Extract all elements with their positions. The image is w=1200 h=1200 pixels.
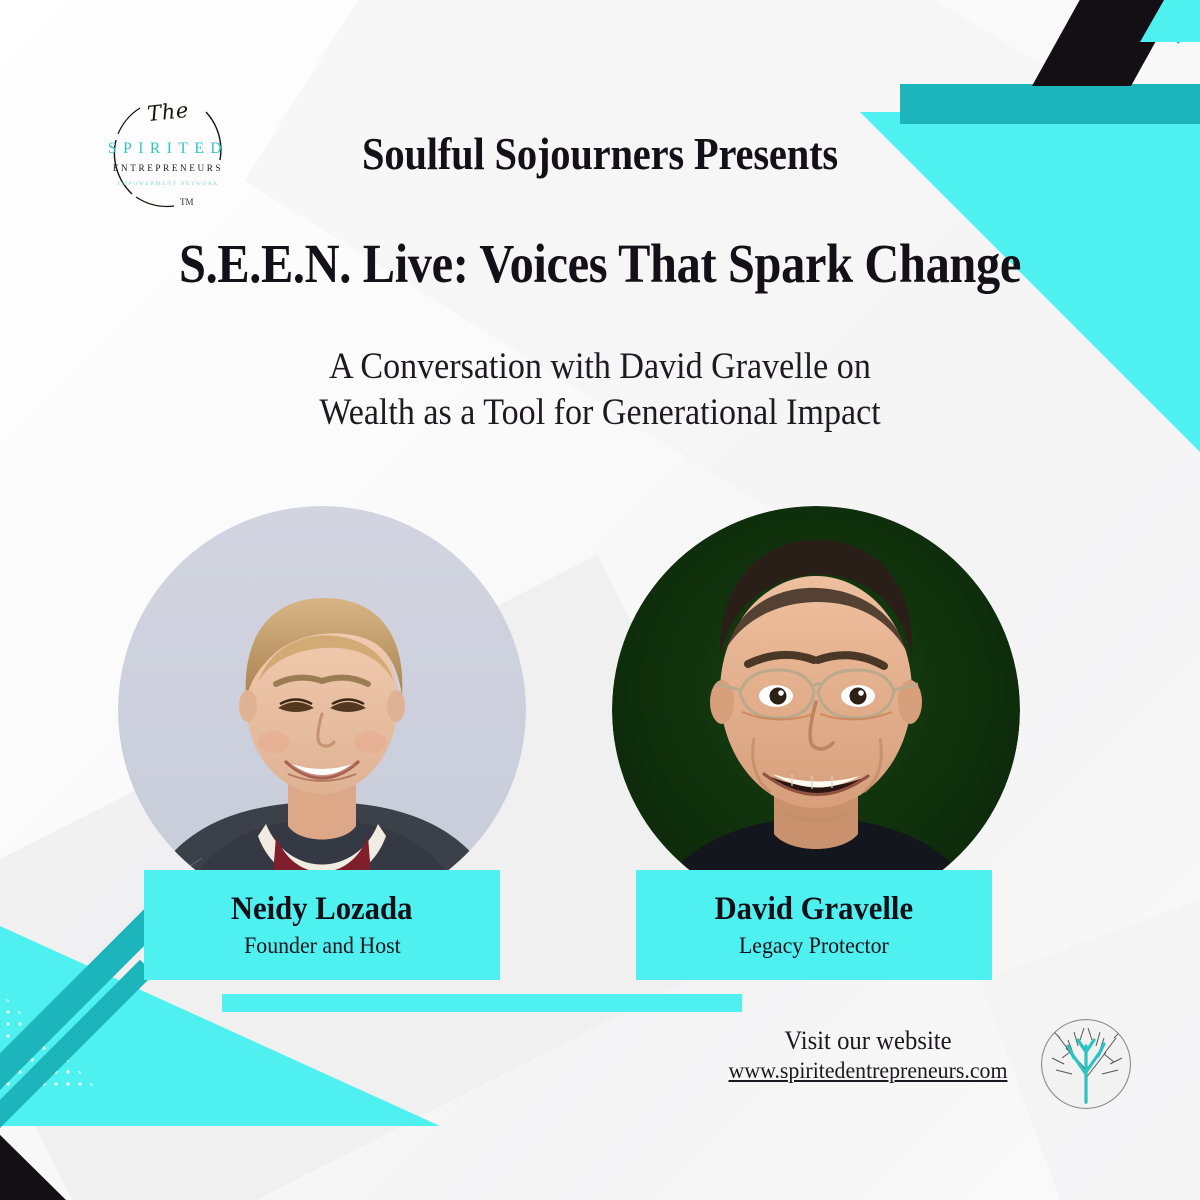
speaker-role: Founder and Host (244, 931, 401, 961)
speaker-name: David Gravelle (715, 890, 914, 928)
speaker-role: Legacy Protector (739, 931, 889, 961)
portrait-image-left (118, 506, 526, 914)
speaker-banner-right: David Gravelle Legacy Protector (636, 870, 992, 980)
subtitle-line-1: A Conversation with David Gravelle on (48, 344, 1152, 390)
portrait-neidy-lozada (118, 506, 526, 914)
presents-line: Soulful Sojourners Presents (60, 128, 1140, 180)
website-callout: Visit our website www.spiritedentreprene… (700, 1026, 1036, 1084)
page-title: S.E.E.N. Live: Voices That Spark Change (72, 232, 1128, 295)
logo-tagline: EMPOWERMENT NETWORK (117, 181, 219, 187)
speaker-name: Neidy Lozada (231, 890, 413, 928)
flyer-canvas: The SPIRITED ENTREPRENEURS EMPOWERMENT N… (0, 0, 1200, 1200)
tree-badge-icon (1040, 1018, 1132, 1110)
cyan-strip-bottom (222, 994, 742, 1012)
speaker-banner-left: Neidy Lozada Founder and Host (144, 870, 500, 980)
visit-website-label: Visit our website (708, 1026, 1027, 1056)
tree-icon (1040, 1018, 1132, 1110)
portrait-image-right (612, 506, 1020, 914)
logo-trademark: TM (180, 197, 194, 207)
logo-script-word: The (146, 98, 190, 126)
subtitle: A Conversation with David Gravelle on We… (48, 344, 1152, 436)
teal-horizontal-bar (900, 84, 1200, 124)
website-url-link[interactable]: www.spiritedentrepreneurs.com (708, 1058, 1027, 1084)
portrait-david-gravelle (612, 506, 1020, 914)
subtitle-line-2: Wealth as a Tool for Generational Impact (48, 390, 1152, 436)
